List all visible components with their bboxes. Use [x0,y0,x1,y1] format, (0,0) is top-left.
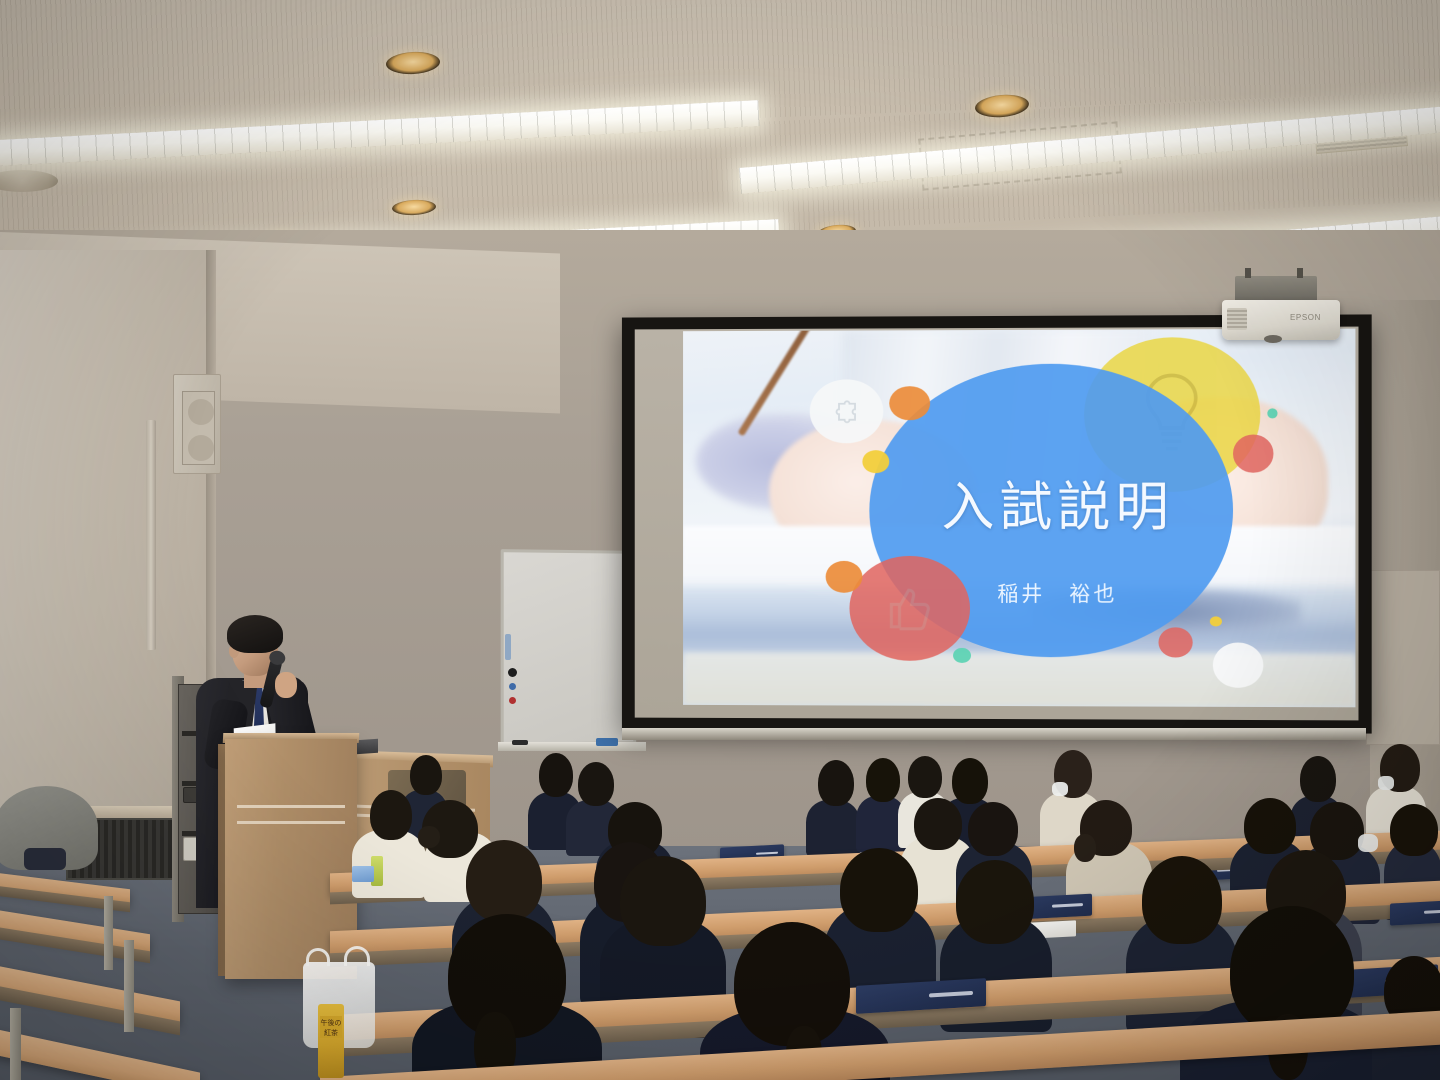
slide-author: 稲井 裕也 [856,578,1260,609]
audience-head [968,802,1018,856]
audience-head [914,798,962,850]
projection-screen: 入試説明 稲井 裕也 [622,314,1372,733]
ceiling-projector: EPSON [1222,300,1340,340]
audience-head [866,758,900,802]
desk-leg-1 [104,896,113,970]
audience-head [410,755,442,795]
audience-head [466,840,542,922]
audience-head [1244,798,1296,854]
whiteboard-magnet-red[interactable] [509,697,516,704]
audience-bun [418,826,440,848]
audience-ponytail [1074,834,1096,862]
projector-brand-label: EPSON [1290,313,1321,322]
projector-lens [1264,335,1282,343]
lectern-trim-1 [237,805,345,808]
presentation-slide: 入試説明 稲井 裕也 [683,329,1355,708]
whiteboard-marker-blue-vertical[interactable] [505,634,511,660]
folder-logo [929,991,973,998]
projector-vent [1227,308,1247,330]
audience-head [578,762,614,806]
audience-head [1142,856,1222,944]
screen-bottom-bar [622,728,1366,740]
folder-logo [756,851,778,854]
yellow-dot-lower [1209,616,1221,627]
wall-conduit-pipe [146,420,156,650]
thumbsup-circle [849,556,969,661]
audience-head [620,856,706,946]
audience-body [352,830,426,898]
folder-logo [1424,910,1440,914]
audience-head [1390,804,1438,856]
wall-speaker [173,374,221,474]
document-folder[interactable] [1390,900,1440,925]
desk-leg-2 [124,940,134,1032]
whiteboard-eraser[interactable] [596,738,618,746]
audience-face-mask [1378,776,1394,790]
speaker-right-hand [275,672,297,698]
puzzle-circle [809,379,882,443]
audience-head [908,756,942,798]
blue-card[interactable] [352,866,374,882]
audience-head [734,922,850,1046]
desk-leg-3 [10,1008,21,1080]
audience-head [952,758,988,804]
slide-title: 入試説明 [856,465,1260,541]
audience-head [840,848,918,932]
teal-dot-lower [953,648,970,663]
bag-handle-left [306,948,330,966]
office-chair[interactable] [0,786,98,870]
bag-handle-right [344,946,370,966]
thumbs-up-icon [849,556,969,661]
puzzle-icon [809,379,882,443]
whiteboard-magnet-black[interactable] [508,668,517,677]
right-wall-panel [1366,570,1440,745]
teal-dot-right [1267,408,1278,418]
white-dot-bottom [1213,643,1264,688]
audience-head [539,753,573,797]
orange-dot-top [890,387,930,421]
lecture-hall-photo: 入試説明 稲井 裕也 EPSON [0,0,1440,1080]
lectern-trim-2 [237,821,345,824]
audience-body [806,800,860,856]
audience-face-mask [1052,782,1068,796]
audience-head [1300,756,1336,802]
red-dot-lower [1159,627,1193,657]
audience-face-mask [1358,834,1378,852]
whiteboard-magnet-blue[interactable] [509,683,516,690]
whiteboard[interactable] [501,549,636,746]
tea-bottle[interactable]: 午後の紅茶 [318,1004,344,1078]
audience-head [956,860,1034,944]
folder-logo [1052,903,1083,908]
audience-head [818,760,854,806]
tea-bottle-text: 午後の紅茶 [318,1018,344,1038]
speaker-hair [227,615,283,653]
whiteboard-marker-black[interactable] [512,740,528,745]
audience-head [370,790,412,840]
